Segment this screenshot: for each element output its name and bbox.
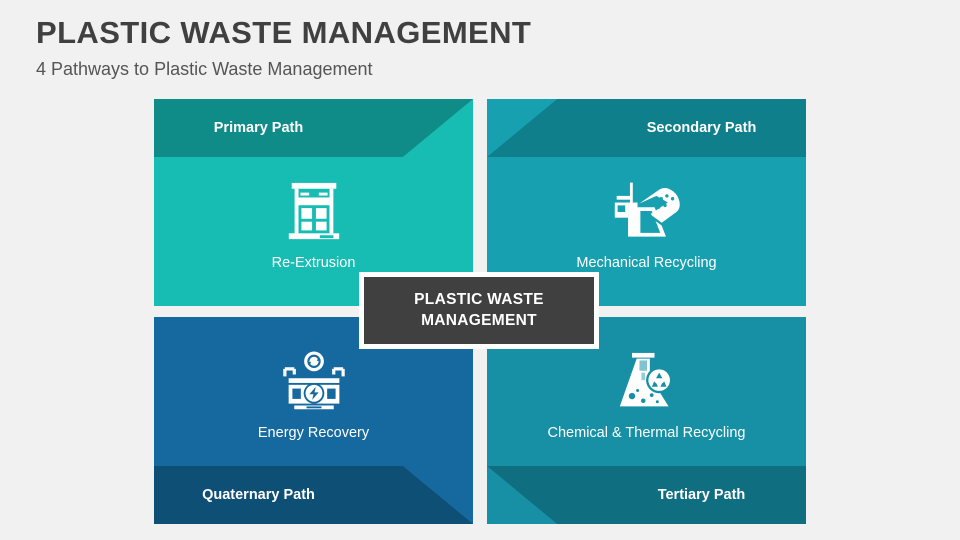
extrusion-machine-icon — [283, 169, 345, 255]
energy-recovery-plant-icon — [281, 339, 347, 425]
band-secondary: Secondary Path — [487, 99, 806, 157]
band-label-quaternary: Quaternary Path — [202, 487, 315, 503]
page-title: PLASTIC WASTE MANAGEMENT — [36, 16, 531, 50]
flask-recycle-icon — [616, 339, 678, 425]
band-label-tertiary: Tertiary Path — [658, 487, 746, 503]
band-quaternary: Quaternary Path — [154, 466, 473, 524]
item-label-chemical-thermal-recycling: Chemical & Thermal Recycling — [548, 425, 746, 441]
band-tertiary: Tertiary Path — [487, 466, 806, 524]
item-label-mechanical-recycling: Mechanical Recycling — [576, 255, 716, 271]
center-badge-inner: PLASTIC WASTE MANAGEMENT — [364, 277, 594, 344]
page-subtitle: 4 Pathways to Plastic Waste Management — [36, 59, 531, 80]
center-badge: PLASTIC WASTE MANAGEMENT — [359, 272, 599, 349]
title-block: PLASTIC WASTE MANAGEMENT 4 Pathways to P… — [36, 16, 531, 80]
item-label-re-extrusion: Re-Extrusion — [272, 255, 356, 271]
band-primary: Primary Path — [154, 99, 473, 157]
item-label-energy-recovery: Energy Recovery — [258, 425, 369, 441]
band-label-primary: Primary Path — [214, 120, 303, 136]
conveyor-sorting-icon — [611, 169, 683, 255]
center-title-line1: PLASTIC WASTE — [414, 290, 544, 311]
band-label-secondary: Secondary Path — [647, 120, 757, 136]
center-title-line2: MANAGEMENT — [421, 311, 537, 332]
